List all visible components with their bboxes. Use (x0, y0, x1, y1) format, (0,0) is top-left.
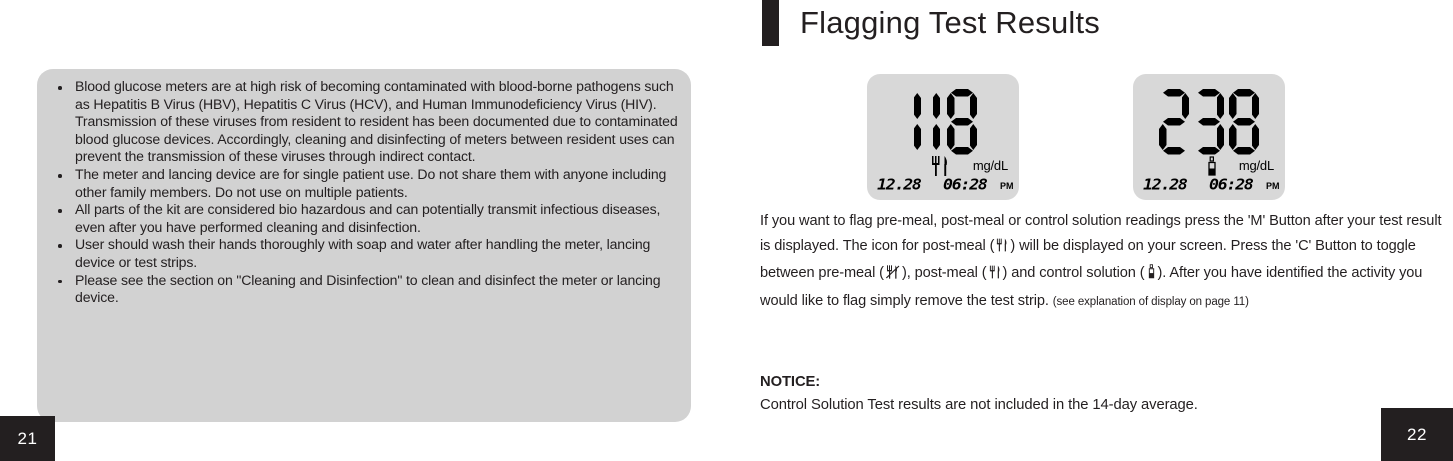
page-number-right: 22 (1381, 408, 1453, 461)
meter-unit-label: mg/dL (973, 158, 1008, 173)
bullet-dot-icon (58, 244, 62, 248)
meter-date: 12.28 (1143, 176, 1187, 193)
segment-e (1229, 124, 1237, 150)
control-solution-bottle-icon (1146, 264, 1157, 289)
warning-text: User should wash their hands thoroughly … (75, 236, 650, 270)
segment-a (1233, 89, 1255, 97)
page-number-label: 21 (18, 429, 38, 449)
list-item: Blood glucose meters are at high risk of… (51, 78, 679, 166)
meter-bottom-row-2: 12.28 06:28 PM (1133, 175, 1285, 197)
segment-d (1163, 147, 1185, 155)
list-item: User should wash their hands thoroughly … (51, 236, 679, 271)
seven-segment-digit (1229, 89, 1259, 155)
segment-g (1198, 118, 1220, 126)
meter-date: 12.28 (877, 176, 921, 193)
bullet-dot-icon (58, 174, 62, 178)
notice-text: Control Solution Test results are not in… (760, 394, 1443, 417)
warnings-list: Blood glucose meters are at high risk of… (51, 78, 679, 307)
segment-c (933, 124, 941, 150)
segment-e (1159, 124, 1167, 150)
pre-meal-crossed-fork-knife-icon (885, 264, 901, 289)
segment-b (1252, 93, 1260, 119)
left-page: Blood glucose meters are at high risk of… (0, 0, 727, 461)
segment-g (951, 118, 973, 126)
segment-f (1229, 93, 1237, 119)
section-header: Flagging Test Results (762, 0, 1100, 46)
segment-d (951, 147, 973, 155)
segment-b (1217, 93, 1225, 119)
meter-reading-1: 118 (867, 84, 1019, 160)
warning-text: Please see the section on "Cleaning and … (75, 272, 660, 306)
segment-g (1163, 118, 1185, 126)
segment-b (1182, 93, 1190, 119)
page-number-left: 21 (0, 416, 55, 461)
meter-time: 06:28 (943, 176, 987, 193)
seven-segment-digit (928, 89, 942, 155)
segment-c (970, 124, 978, 150)
fork-knife-icon (988, 264, 1002, 289)
seven-segment-number (1159, 89, 1259, 155)
list-item: The meter and lancing device are for sin… (51, 166, 679, 201)
segment-b (933, 93, 941, 119)
display-explanation-note: (see explanation of display on page 11) (1053, 296, 1249, 308)
seven-segment-digit (1159, 89, 1189, 155)
bullet-dot-icon (58, 280, 62, 284)
meter-bottom-row-1: 12.28 06:28 PM (867, 175, 1019, 197)
instructions-part-4: ) and control solution ( (1003, 265, 1145, 281)
meter-reading-2: 238 (1133, 84, 1285, 160)
seven-segment-digit (947, 89, 977, 155)
right-page: Flagging Test Results (727, 0, 1453, 461)
seven-segment-digit (909, 89, 923, 155)
bullet-dot-icon (58, 86, 62, 90)
segment-e (947, 124, 955, 150)
seven-segment-digit (1194, 89, 1224, 155)
page-title: Flagging Test Results (800, 0, 1100, 46)
segment-d (1233, 147, 1255, 155)
page-number-label: 22 (1407, 425, 1427, 445)
segment-a (1163, 89, 1185, 97)
segment-a (951, 89, 973, 97)
seven-segment-number (909, 89, 977, 155)
warnings-panel: Blood glucose meters are at high risk of… (37, 69, 691, 422)
segment-g (1233, 118, 1255, 126)
segment-c (1252, 124, 1260, 150)
meter-unit-label: mg/dL (1239, 158, 1274, 173)
warning-text: Blood glucose meters are at high risk of… (75, 78, 678, 164)
notice-block: NOTICE: Control Solution Test results ar… (760, 371, 1443, 417)
segment-b (970, 93, 978, 119)
segment-c (914, 124, 922, 150)
segment-c (1217, 124, 1225, 150)
bullet-dot-icon (58, 209, 62, 213)
meter-display-group: 118 (867, 74, 1297, 200)
notice-title: NOTICE: (760, 371, 1443, 394)
fork-knife-icon (995, 237, 1009, 262)
meter-screen-post-meal: 118 (867, 74, 1019, 200)
meter-ampm: PM (1266, 181, 1280, 191)
meter-ampm: PM (1000, 181, 1014, 191)
warning-text: The meter and lancing device are for sin… (75, 166, 666, 200)
instructions-part-3: ), post-meal ( (902, 265, 987, 281)
segment-a (1198, 89, 1220, 97)
list-item: Please see the section on "Cleaning and … (51, 272, 679, 307)
meter-time: 06:28 (1209, 176, 1253, 193)
flagging-instructions: If you want to flag pre-meal, post-meal … (760, 209, 1443, 314)
warning-text: All parts of the kit are considered bio … (75, 201, 660, 235)
manual-spread: Blood glucose meters are at high risk of… (0, 0, 1453, 461)
segment-b (914, 93, 922, 119)
segment-d (1198, 147, 1220, 155)
meter-screen-control-solution: 238 mg/dL 12.28 06:28 PM (1133, 74, 1285, 200)
segment-f (947, 93, 955, 119)
title-accent-bar-icon (762, 0, 779, 46)
list-item: All parts of the kit are considered bio … (51, 201, 679, 236)
